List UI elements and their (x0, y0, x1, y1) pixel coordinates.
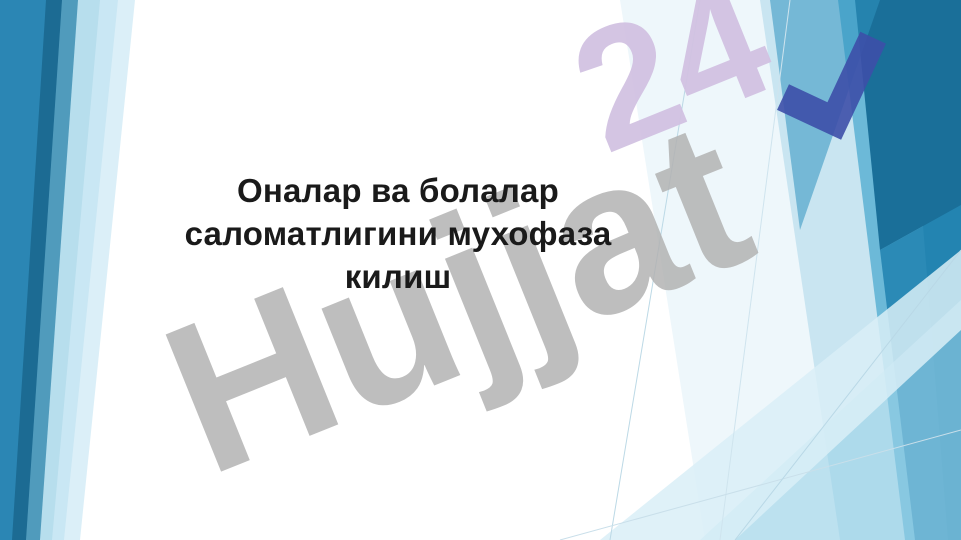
right-accent-triangle-2 (880, 205, 961, 540)
watermark-check-mark (762, 25, 912, 157)
right-navy-top (855, 0, 961, 250)
hairline-3 (560, 430, 961, 540)
hairline-2 (720, 0, 790, 540)
right-deep-blue (905, 0, 961, 540)
right-light-blue-1 (760, 0, 961, 540)
presentation-slide: Hujjat 24 Оналар ва болалар саломатлигин… (0, 0, 961, 540)
page-title: Оналар ва болалар саломатлигини мухофаза… (118, 170, 678, 299)
left-dark-band (12, 0, 78, 540)
left-light-wedge (26, 0, 118, 540)
hairline-4 (735, 250, 961, 540)
right-accent-triangle (770, 0, 880, 230)
right-mid-blue (838, 0, 961, 540)
left-deep-blue-band (0, 0, 62, 540)
title-block: Оналар ва болалар саломатлигини мухофаза… (118, 170, 678, 299)
watermark-text-right: 24 (549, 0, 795, 189)
right-bottom-light (700, 300, 961, 540)
